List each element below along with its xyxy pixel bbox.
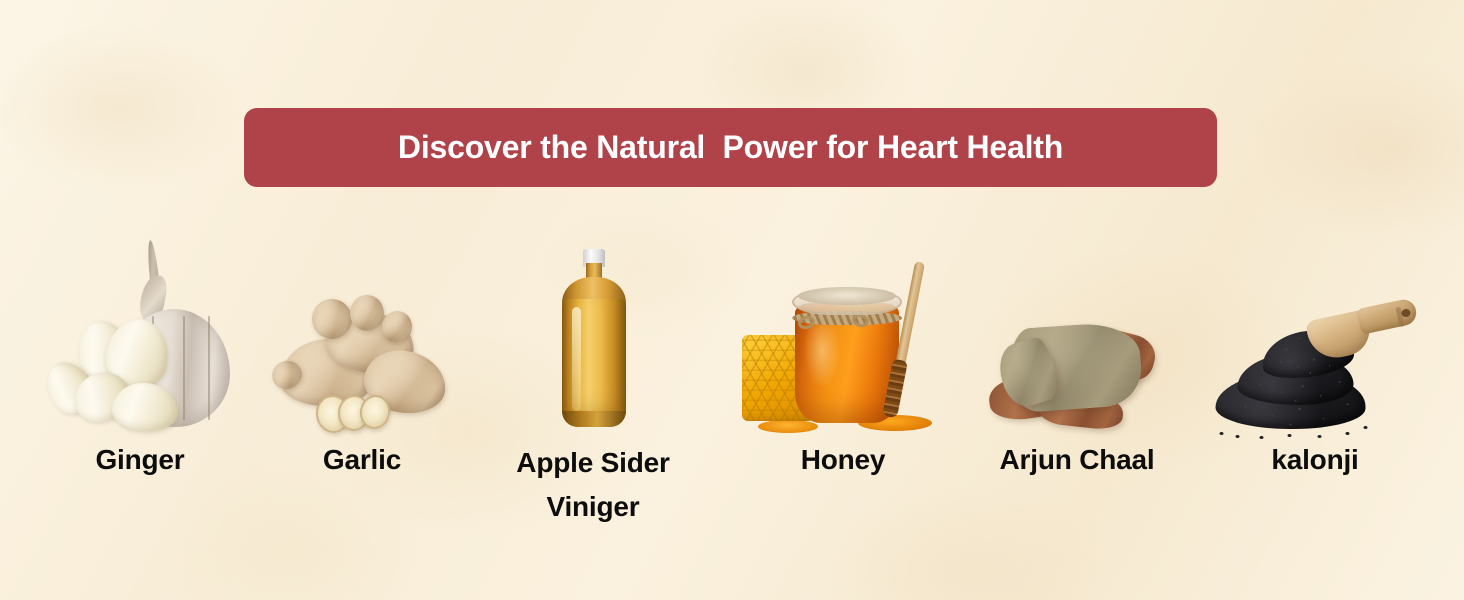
bottle-highlight [572, 307, 581, 411]
product-item-6[interactable] [1213, 295, 1418, 435]
arjuna-tree-bark-pieces-image [987, 270, 1167, 435]
garlic-seam [183, 316, 185, 420]
product-item-1[interactable] [40, 245, 240, 435]
product-item-2[interactable] [272, 260, 462, 435]
apple-cider-vinegar-bottle-image [538, 235, 648, 435]
garlic-seam [208, 316, 210, 420]
product-item-4[interactable] [740, 245, 950, 435]
stray-seed [1363, 426, 1367, 429]
headline-text: Discover the Natural Power for Heart Hea… [398, 129, 1063, 166]
product-label-5: Arjun Chaal [962, 438, 1192, 482]
ginger-knob [350, 295, 384, 331]
honey-jar-with-honeycomb-and-dipper-image [740, 245, 950, 435]
headline-banner: Discover the Natural Power for Heart Hea… [244, 108, 1217, 187]
bottle-base [562, 411, 626, 427]
stray-seed [1287, 434, 1291, 437]
jar-lid-top [798, 287, 896, 305]
honey-puddle [758, 420, 818, 433]
garlic-bulb-with-cloves-image [40, 245, 240, 435]
product-label-3: Apple Sider Viniger [478, 441, 708, 529]
product-row [0, 215, 1464, 435]
dipper-handle [895, 261, 925, 365]
product-label-2: Garlic [262, 438, 462, 482]
product-item-5[interactable] [987, 270, 1167, 435]
product-label-1: Ginger [40, 438, 240, 482]
product-label-6: kalonji [1215, 438, 1415, 482]
stray-seed [1345, 432, 1349, 435]
black-nigella-seeds-with-wooden-scoop-image [1213, 295, 1418, 435]
stray-seed [1219, 432, 1223, 435]
ginger-root-with-slices-image [272, 260, 462, 435]
product-item-3[interactable] [538, 235, 648, 435]
product-label-4: Honey [743, 438, 943, 482]
